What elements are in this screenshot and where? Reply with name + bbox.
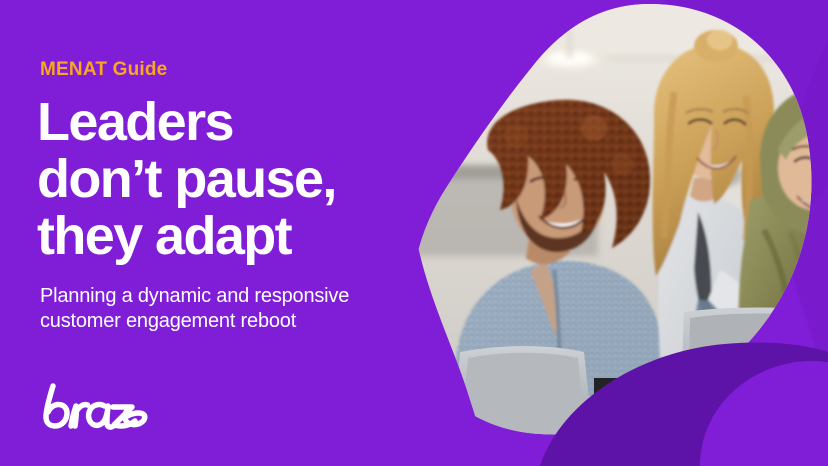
- braze-logo[interactable]: braze: [38, 381, 150, 433]
- subtitle: Planning a dynamic and responsive custom…: [40, 284, 435, 334]
- subtitle-line-2: customer engagement reboot: [40, 309, 435, 334]
- subtitle-line-1: Planning a dynamic and responsive: [40, 284, 435, 309]
- page-title: Leaders don’t pause, they adapt: [37, 94, 437, 265]
- headline-line-3: they adapt: [37, 208, 437, 265]
- braze-script-wordmark-icon: [38, 381, 150, 433]
- headline-line-1: Leaders: [37, 94, 437, 151]
- eyebrow-label: MENAT Guide: [40, 60, 167, 79]
- headline-line-2: don’t pause,: [37, 151, 437, 208]
- marketing-banner: MENAT Guide Leaders don’t pause, they ad…: [0, 0, 828, 466]
